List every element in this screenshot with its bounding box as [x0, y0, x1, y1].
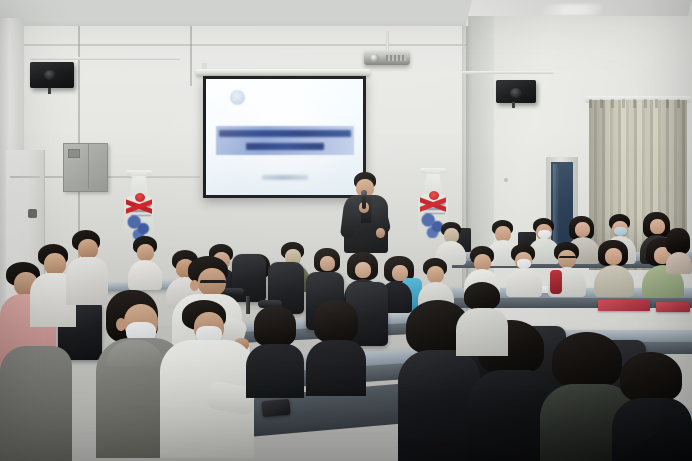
projector-lens-icon	[370, 54, 379, 62]
face	[137, 244, 154, 261]
audience-member-foreground	[612, 352, 692, 461]
torso	[612, 398, 692, 461]
porcelain-vase-left	[122, 170, 156, 244]
torso	[246, 344, 304, 398]
speaker-rail-left	[30, 57, 180, 60]
presenter-hand-right	[376, 228, 385, 238]
audience-member	[128, 236, 162, 286]
screen-roller-housing	[196, 69, 370, 76]
torso	[594, 265, 634, 297]
vase-neck	[425, 168, 441, 175]
face	[427, 266, 444, 283]
left-cabinet-seam	[10, 176, 40, 178]
booklet-red	[656, 302, 690, 312]
audience-member	[306, 300, 366, 390]
audience-member	[548, 242, 586, 294]
audience-member-edge	[66, 230, 108, 302]
torso	[0, 346, 72, 461]
vase-ribbon-knot	[429, 191, 439, 200]
microphone-head-icon	[361, 190, 367, 196]
audience-member-edge	[666, 228, 692, 272]
lecture-hall-photo: Lecture hall seminar with presenter and …	[0, 0, 692, 461]
face	[78, 239, 98, 259]
torso	[66, 257, 108, 305]
audience-member	[594, 240, 634, 294]
audience-member	[506, 244, 542, 294]
wall-trim-upper	[0, 44, 470, 46]
torso	[456, 308, 508, 356]
microphone[interactable]	[362, 194, 366, 209]
red-jacket-accent	[550, 270, 562, 294]
torso	[666, 252, 692, 274]
vase-ribbon-knot	[135, 193, 145, 202]
face	[355, 262, 371, 278]
wall-speaker-left	[30, 62, 74, 88]
speaker-bracket-left	[48, 88, 51, 94]
face	[605, 248, 622, 265]
glasses-icon	[559, 256, 576, 262]
vase-neck	[131, 170, 147, 177]
projector-mount-pole	[386, 31, 389, 52]
ear	[116, 318, 126, 331]
presenter-speaker	[338, 172, 396, 262]
wall-seam-b	[190, 26, 192, 86]
ear	[190, 280, 199, 291]
electrical-panel-divider	[88, 144, 89, 189]
audience-member	[436, 222, 466, 262]
face-mask	[614, 227, 627, 236]
speaker-rail-right	[462, 71, 554, 74]
hair	[666, 228, 690, 254]
audience-member-edge	[0, 330, 72, 461]
wall-speaker-right	[496, 80, 536, 103]
hair	[620, 352, 682, 402]
hair	[314, 300, 358, 342]
hair	[254, 306, 296, 346]
electrical-panel-window	[68, 149, 80, 158]
left-cabinet-latch	[28, 209, 37, 218]
torso	[306, 340, 366, 396]
torso	[128, 260, 162, 290]
audience-member	[246, 306, 304, 392]
wall-fixture-dot-right	[504, 178, 508, 182]
glasses-icon	[200, 280, 226, 287]
booklet-red	[598, 300, 650, 311]
projector-vent	[386, 55, 406, 61]
face	[320, 256, 335, 271]
face	[650, 219, 665, 234]
audience-member-foreground	[160, 300, 256, 461]
face	[575, 222, 590, 237]
speaker-bracket-right	[512, 102, 515, 108]
mobile-phone[interactable]	[261, 399, 290, 417]
audience-member	[456, 282, 508, 352]
ceiling-light-icon	[538, 4, 604, 15]
hair	[464, 282, 500, 310]
face	[44, 253, 66, 275]
torso	[506, 268, 542, 297]
